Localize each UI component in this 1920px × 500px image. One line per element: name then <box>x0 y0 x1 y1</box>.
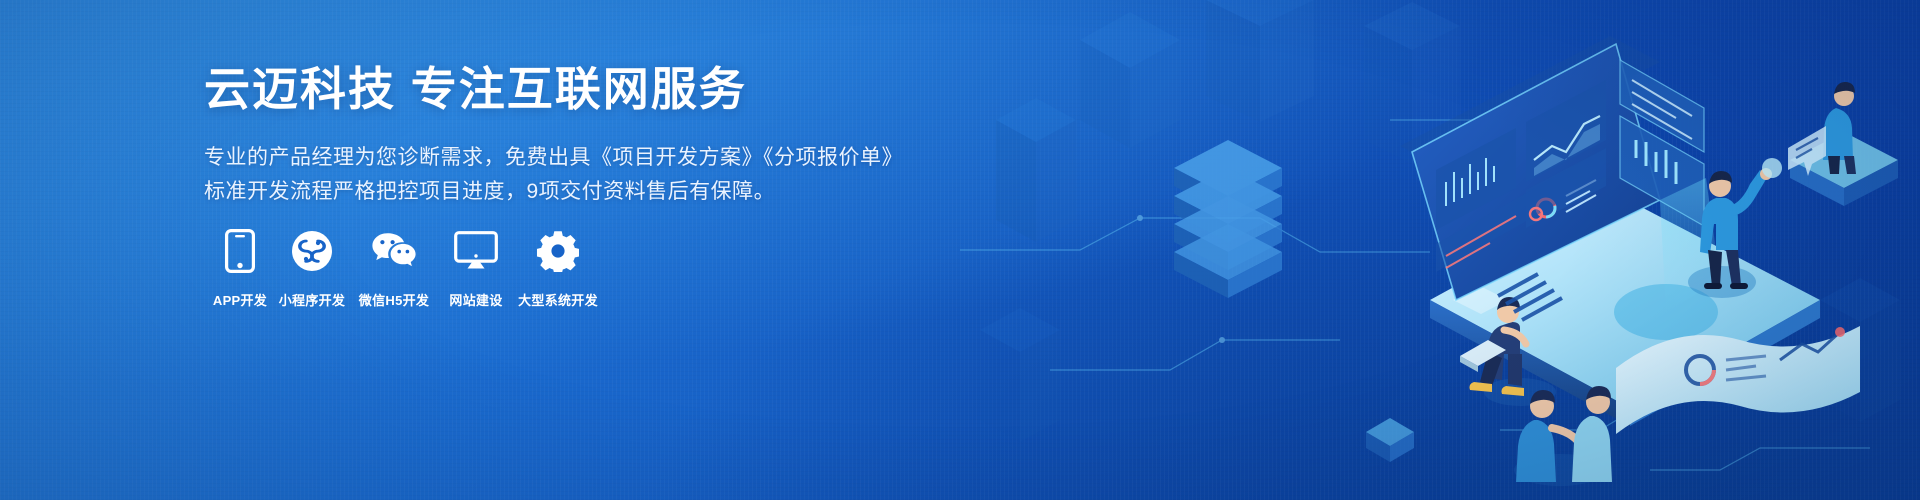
wechat-icon <box>371 228 417 274</box>
service-label: 小程序开发 <box>279 290 346 309</box>
gear-icon <box>535 228 581 274</box>
service-label: 网站建设 <box>449 290 502 309</box>
page-title: 云迈科技 专注互联网服务 <box>204 64 924 115</box>
service-label: 大型系统开发 <box>518 290 598 309</box>
service-item-miniprogram[interactable]: 小程序开发 <box>276 228 348 309</box>
service-item-large-system[interactable]: 大型系统开发 <box>512 228 604 309</box>
server-stack <box>1174 140 1282 298</box>
mini-program-icon <box>289 228 335 274</box>
service-item-website[interactable]: 网站建设 <box>440 228 512 309</box>
subtitle-line-1: 专业的产品经理为您诊断需求，免费出具《项目开发方案》《分项报价单》 <box>204 141 924 175</box>
service-list: APP开发 小程序开发 <box>204 228 604 309</box>
marketing-banner: 云迈科技 专注互联网服务 专业的产品经理为您诊断需求，免费出具《项目开发方案》《… <box>0 0 1920 500</box>
service-item-app[interactable]: APP开发 <box>204 228 276 309</box>
service-label: APP开发 <box>213 290 267 309</box>
isometric-data-dashboard-illustration <box>960 0 1920 500</box>
monitor-icon <box>453 228 499 274</box>
mobile-phone-icon <box>217 228 263 274</box>
service-label: 微信H5开发 <box>359 290 429 309</box>
service-item-wechat-h5[interactable]: 微信H5开发 <box>348 228 440 309</box>
accent-cubes <box>1366 418 1414 462</box>
subtitle-line-2: 标准开发流程严格把控项目进度，9项交付资料售后有保障。 <box>204 175 924 209</box>
banner-copy: 云迈科技 专注互联网服务 专业的产品经理为您诊断需求，免费出具《项目开发方案》《… <box>204 64 924 209</box>
